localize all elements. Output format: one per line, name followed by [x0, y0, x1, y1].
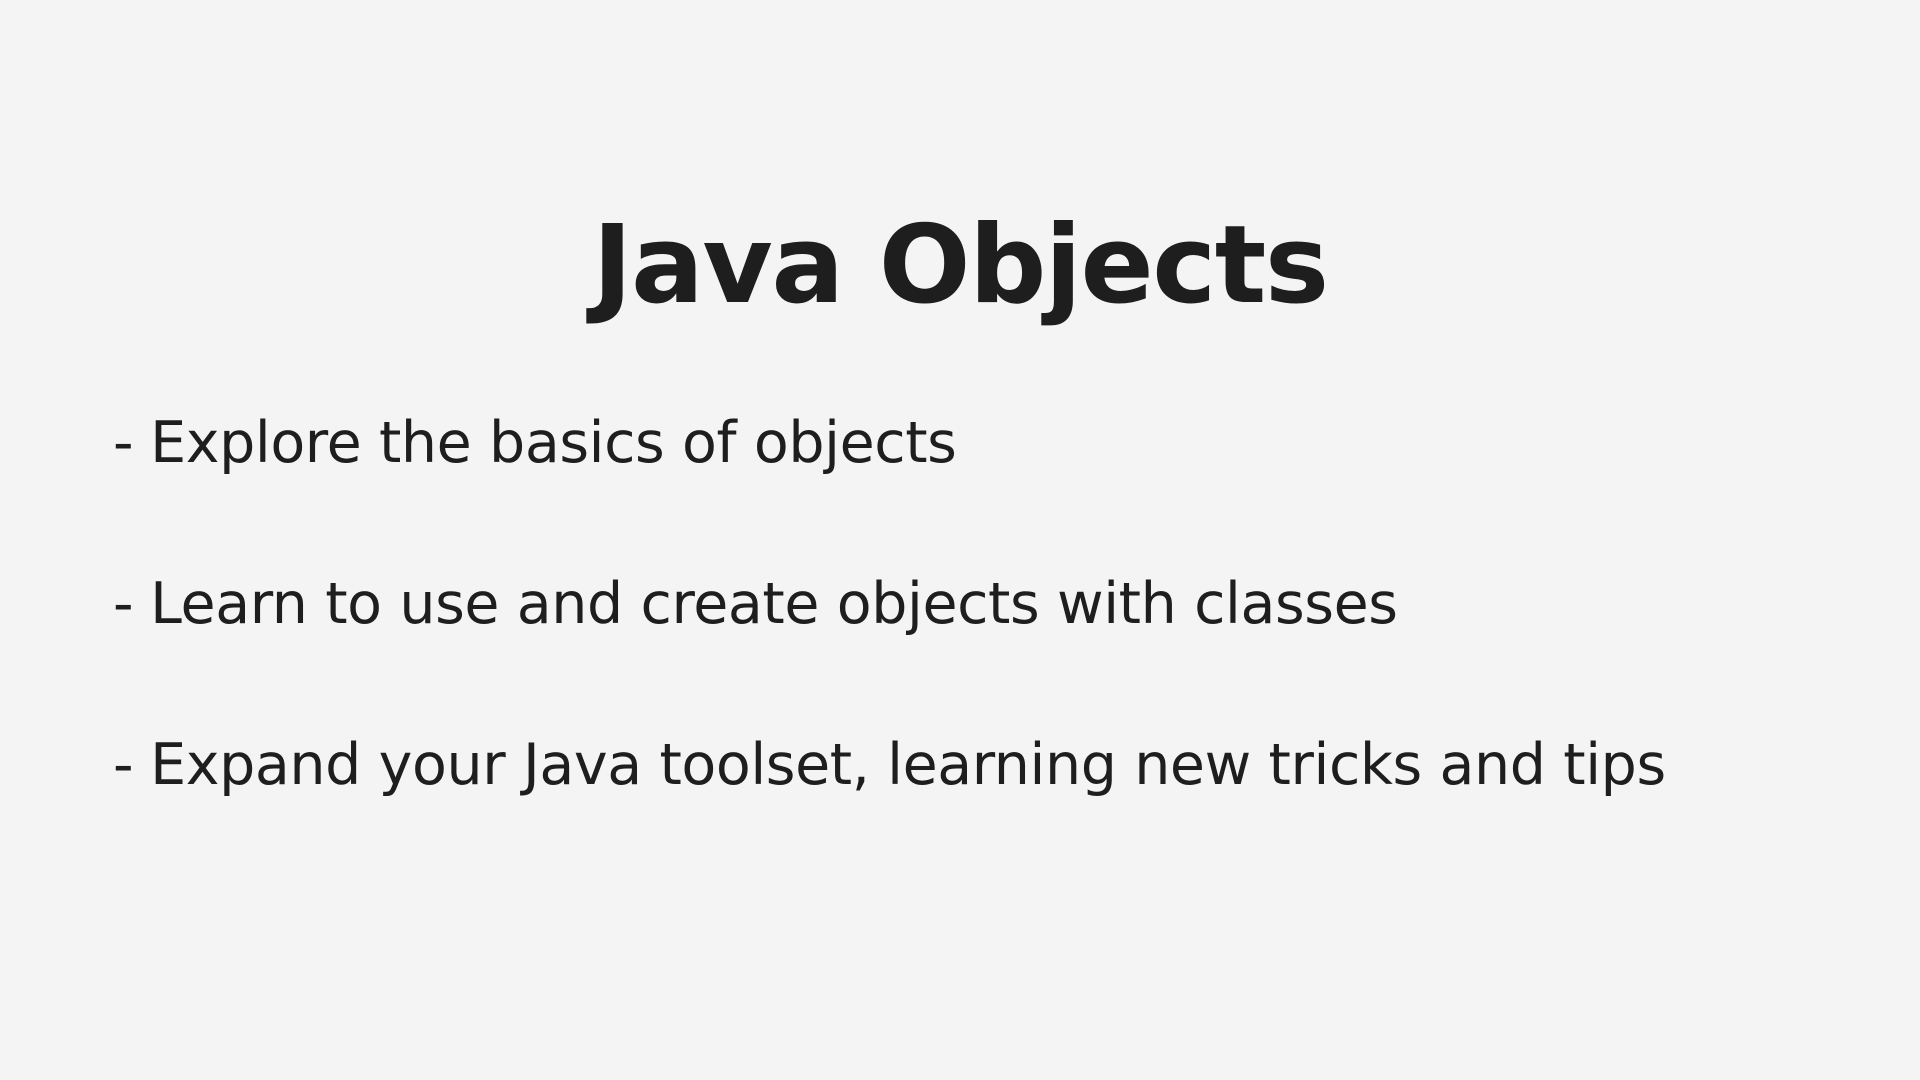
bullet-list: - Explore the basics of objects - Learn … — [113, 412, 1860, 797]
slide-title: Java Objects — [0, 202, 1920, 329]
bullet-dash-icon: - — [113, 412, 133, 476]
list-item-label: Learn to use and create objects with cla… — [150, 573, 1397, 637]
bullet-dash-icon: - — [113, 573, 133, 637]
list-item: - Learn to use and create objects with c… — [113, 573, 1860, 637]
presentation-slide: Java Objects - Explore the basics of obj… — [0, 0, 1920, 1080]
list-item: - Expand your Java toolset, learning new… — [113, 734, 1860, 798]
list-item: - Explore the basics of objects — [113, 412, 1860, 476]
list-item-label: Expand your Java toolset, learning new t… — [150, 734, 1666, 798]
bullet-dash-icon: - — [113, 734, 133, 798]
list-item-label: Explore the basics of objects — [150, 412, 956, 476]
